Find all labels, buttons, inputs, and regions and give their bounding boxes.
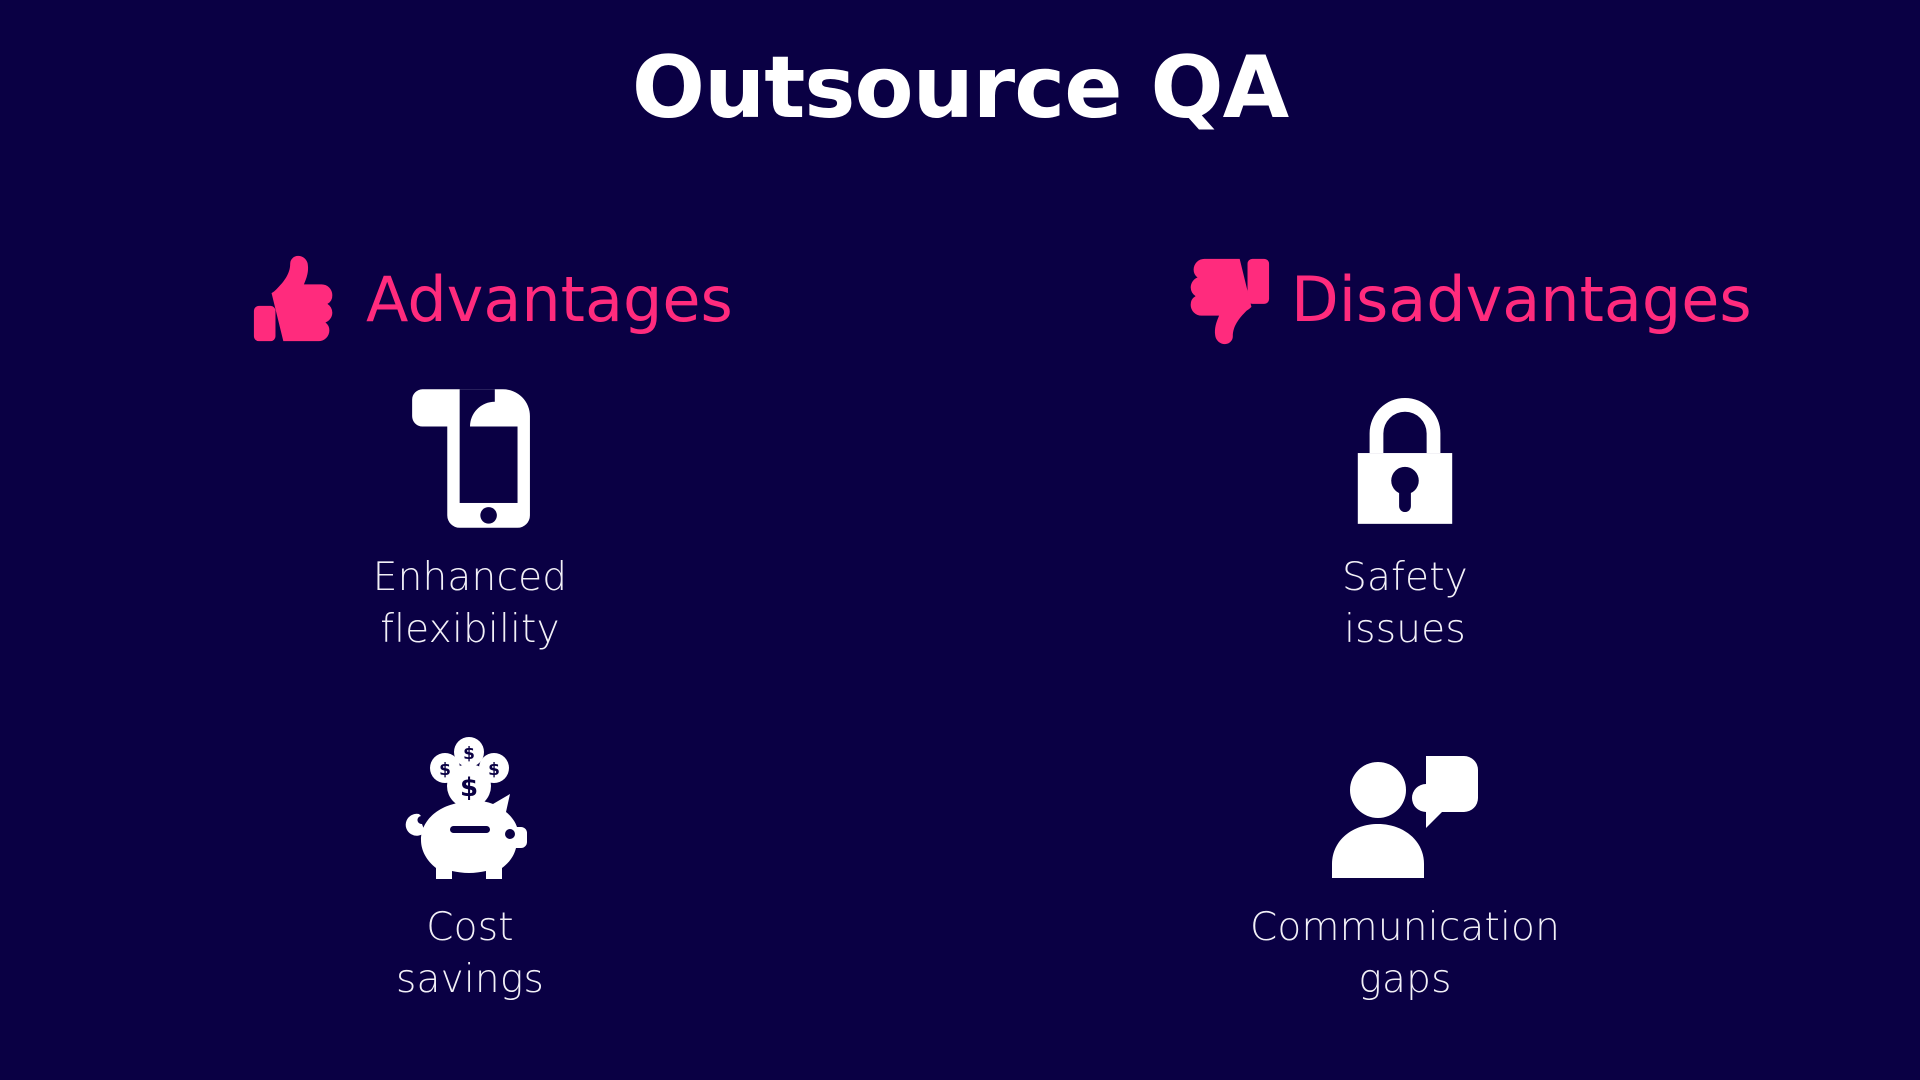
padlock-icon: [1346, 382, 1464, 530]
slide: Outsource QA Advantages: [0, 0, 1920, 1080]
list-item: Communication gaps: [1195, 720, 1615, 1006]
column-disadvantages: Disadvantages: [1010, 240, 1770, 1060]
list-item: $ $ $ $ Cost savings: [260, 720, 680, 1006]
thumbs-up-icon: [250, 251, 348, 349]
person-speech-bubble-icon: [1330, 750, 1480, 880]
list-item-label: Enhanced flexibility: [260, 552, 680, 656]
svg-text:$: $: [460, 773, 478, 803]
list-item-label: Communication gaps: [1195, 902, 1615, 1006]
thumbs-down-icon: [1175, 251, 1273, 349]
list-item: Enhanced flexibility: [260, 370, 680, 656]
list-item-label: Cost savings: [260, 902, 680, 1006]
advantages-heading: Advantages: [130, 240, 890, 360]
flexible-smartphone-icon: [408, 385, 532, 530]
item-icon-wrap: $ $ $ $: [260, 720, 680, 880]
item-icon-wrap: [1195, 370, 1615, 530]
item-icon-wrap: [260, 370, 680, 530]
columns-container: Advantages: [0, 0, 1920, 1080]
disadvantages-heading-label: Disadvantages: [1291, 269, 1752, 331]
column-advantages: Advantages: [130, 240, 890, 1060]
list-item: Safety issues: [1195, 370, 1615, 656]
svg-text:$: $: [439, 760, 451, 780]
list-item-label: Safety issues: [1195, 552, 1615, 656]
disadvantages-heading: Disadvantages: [1010, 240, 1770, 360]
item-icon-wrap: [1195, 720, 1615, 880]
piggy-bank-icon: $ $ $ $: [395, 730, 545, 880]
svg-text:$: $: [463, 744, 475, 764]
svg-text:$: $: [488, 760, 500, 780]
advantages-heading-label: Advantages: [366, 269, 733, 331]
